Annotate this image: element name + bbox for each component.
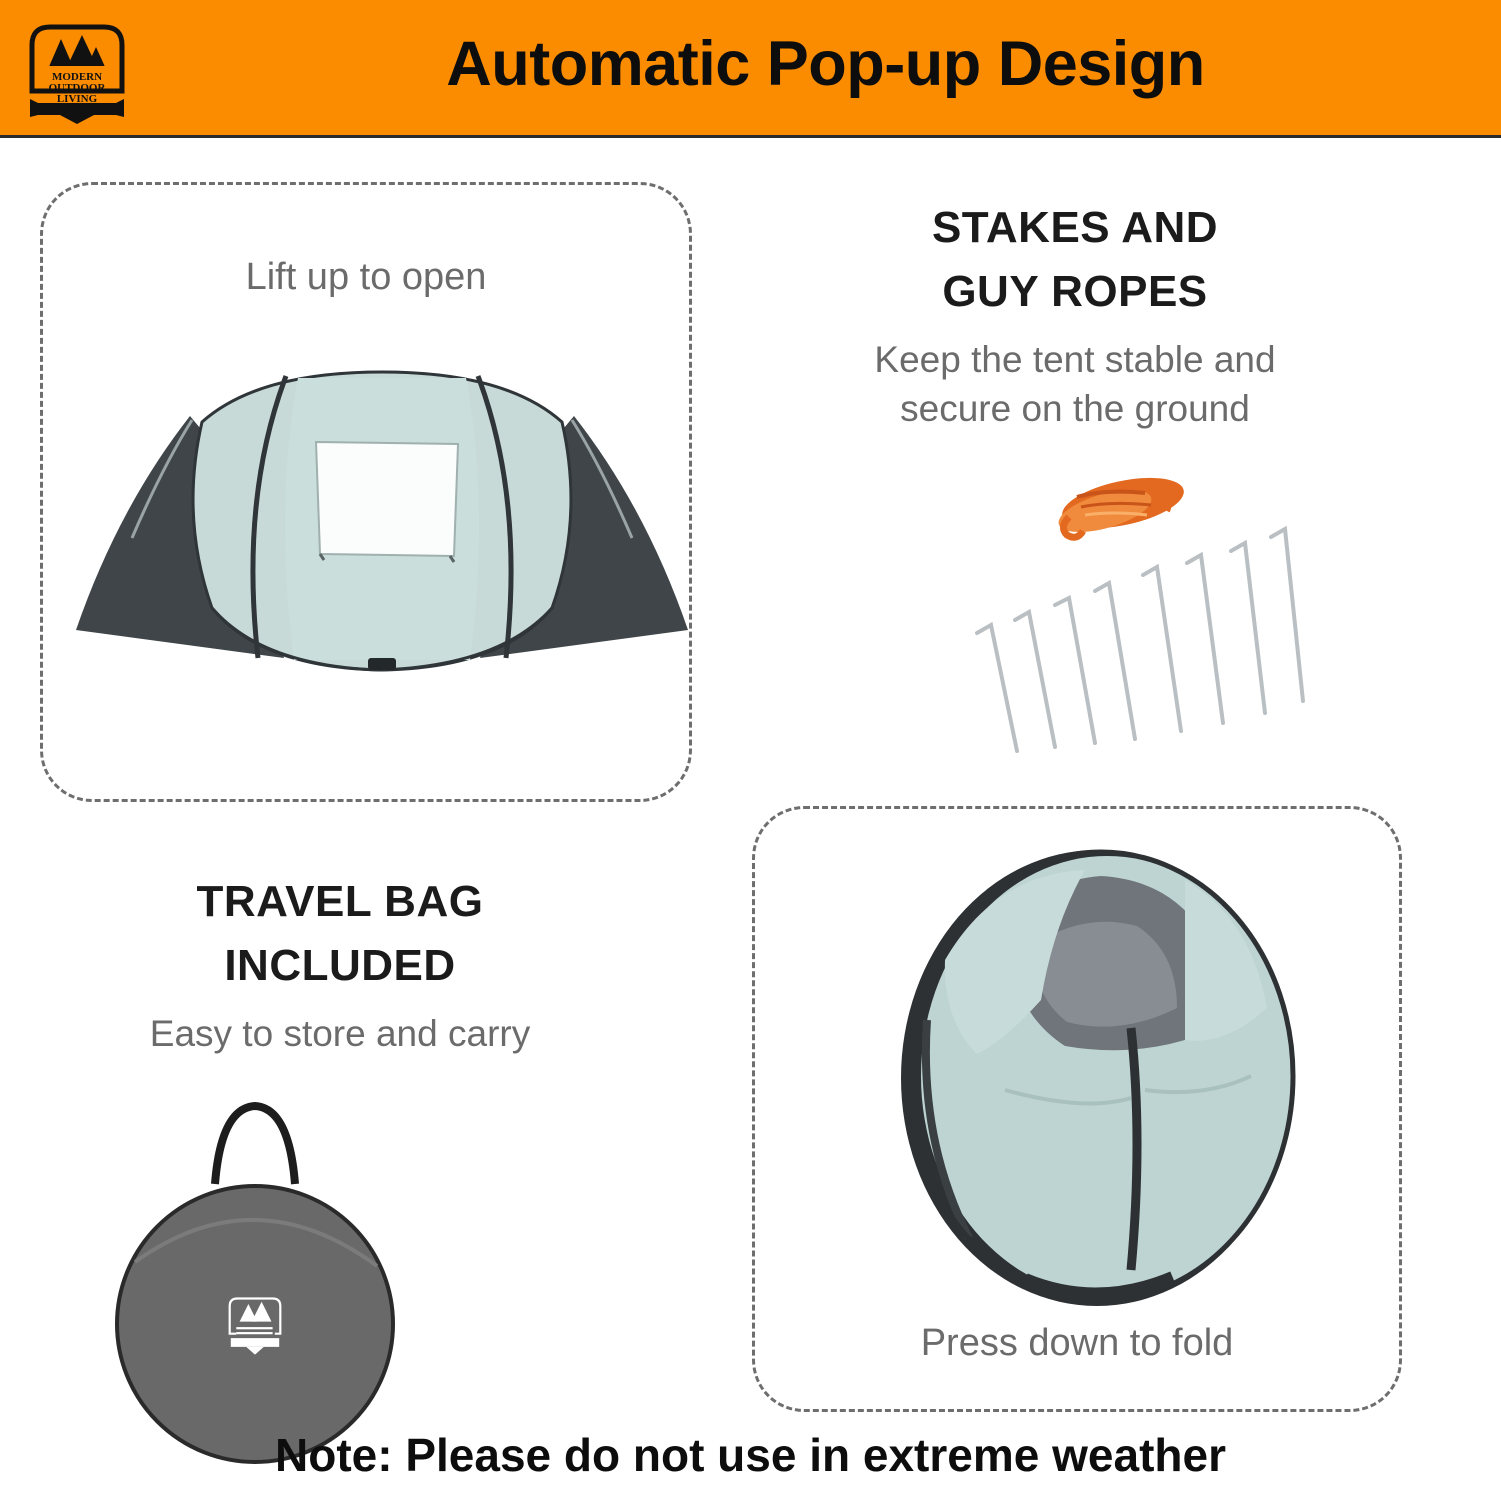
tent-open-illustration [62, 358, 702, 698]
brand-logo: MODERN OUTDOOR LIVING [22, 17, 132, 125]
header-bar: MODERN OUTDOOR LIVING Automatic Pop-up D… [0, 0, 1501, 138]
section-travel-bag-included: TRAVEL BAG INCLUDED Easy to store and ca… [40, 870, 640, 1057]
travel-bag-heading-line2: INCLUDED [40, 934, 640, 998]
guy-rope-coil [1054, 469, 1188, 541]
stakes-heading-line1: STAKES AND [760, 196, 1390, 260]
caption-lift-up-to-open: Lift up to open [40, 256, 692, 299]
stakes-and-rope-illustration [955, 455, 1355, 755]
stakes-sub-line1: Keep the tent stable and [760, 336, 1390, 383]
travel-bag-heading-line1: TRAVEL BAG [40, 870, 640, 934]
caption-press-down-to-fold: Press down to fold [752, 1322, 1402, 1365]
travel-bag-sub-line1: Easy to store and carry [40, 1010, 640, 1057]
stakes-sub-line2: secure on the ground [760, 385, 1390, 432]
folded-tent-illustration [885, 840, 1315, 1310]
footer-note: Note: Please do not use in extreme weath… [0, 1428, 1501, 1482]
stakes-heading-line2: GUY ROPES [760, 260, 1390, 324]
page-title: Automatic Pop-up Design [150, 0, 1501, 135]
section-stakes-and-guy-ropes: STAKES AND GUY ROPES Keep the tent stabl… [760, 196, 1390, 432]
travel-bag-illustration [95, 1092, 415, 1467]
